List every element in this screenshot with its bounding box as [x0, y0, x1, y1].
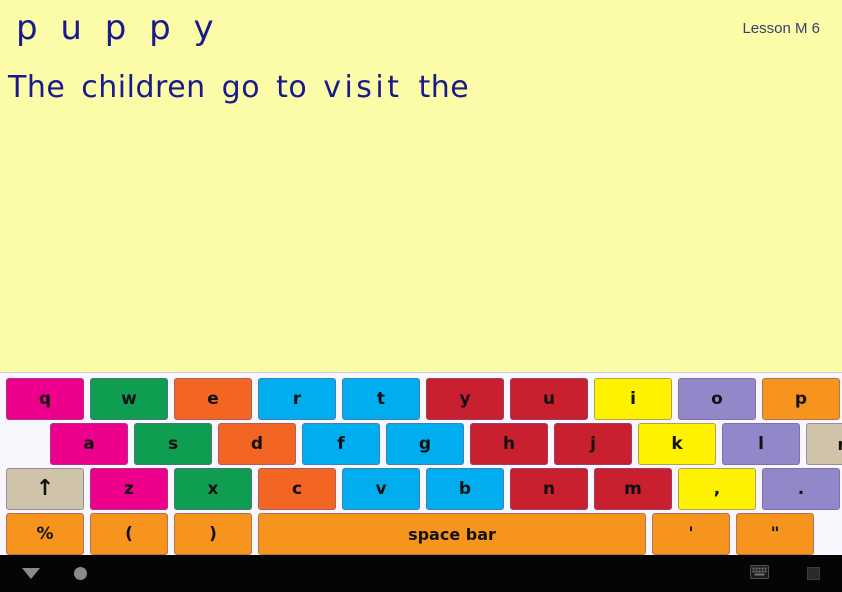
row2-left-gap	[6, 423, 44, 465]
key-apostrophe-label: '	[688, 524, 693, 544]
nav-back-icon[interactable]	[22, 568, 40, 579]
target-word: p u p p y	[16, 8, 220, 48]
key-open-paren[interactable]: (	[90, 513, 168, 555]
key-e-label: e	[207, 389, 219, 409]
key-w-label: w	[121, 389, 137, 409]
key-comma-label: ,	[714, 479, 720, 499]
key-j[interactable]: j	[554, 423, 632, 465]
sentence-word: go	[222, 70, 260, 105]
key-b[interactable]: b	[426, 468, 504, 510]
key-g-label: g	[419, 434, 431, 454]
keyboard-row-2: asdfghjklreturn	[3, 423, 839, 465]
sentence-word: visit	[323, 70, 402, 105]
key-t-label: t	[377, 389, 385, 409]
key-p-label: p	[795, 389, 807, 409]
key-q[interactable]: q	[6, 378, 84, 420]
key-return-label: return	[837, 435, 842, 454]
key-f[interactable]: f	[302, 423, 380, 465]
key-y[interactable]: y	[426, 378, 504, 420]
key-quote-label: "	[771, 524, 780, 544]
key-r-label: r	[293, 389, 301, 409]
keyboard-row-1: qwertyuiop	[3, 378, 839, 420]
key-quote[interactable]: "	[736, 513, 814, 555]
nav-home-icon[interactable]	[74, 567, 87, 580]
key-j-label: j	[590, 434, 596, 454]
key-c-label: c	[292, 479, 302, 499]
key-shift[interactable]: ↑	[6, 468, 84, 510]
key-l[interactable]: l	[722, 423, 800, 465]
key-period-label: .	[798, 479, 804, 499]
key-v-label: v	[375, 479, 386, 499]
key-h[interactable]: h	[470, 423, 548, 465]
key-u-label: u	[543, 389, 555, 409]
key-t[interactable]: t	[342, 378, 420, 420]
key-l-label: l	[758, 434, 764, 454]
key-i-label: i	[630, 389, 636, 409]
key-o[interactable]: o	[678, 378, 756, 420]
key-space-bar[interactable]: space bar	[258, 513, 646, 555]
arrow-up-icon: ↑	[36, 478, 54, 500]
nav-keyboard-icon[interactable]	[750, 564, 769, 583]
nav-left-group	[0, 567, 87, 580]
key-n[interactable]: n	[510, 468, 588, 510]
key-percent[interactable]: %	[6, 513, 84, 555]
key-w[interactable]: w	[90, 378, 168, 420]
sentence-word: the	[419, 70, 470, 105]
nav-right-group	[750, 564, 842, 583]
sentence-word: The	[8, 70, 65, 105]
app-screen: p u p p y Thechildrengotovisitthe Lesson…	[0, 0, 842, 592]
key-close-paren-label: )	[209, 524, 217, 544]
on-screen-keyboard: qwertyuiopasdfghjklreturn↑zxcvbnm,.;%()s…	[0, 372, 842, 555]
key-y-label: y	[459, 389, 470, 409]
key-v[interactable]: v	[342, 468, 420, 510]
android-nav-bar	[0, 555, 842, 592]
key-close-paren[interactable]: )	[174, 513, 252, 555]
key-m[interactable]: m	[594, 468, 672, 510]
keyboard-row-4: %()space bar'"	[3, 513, 839, 555]
sentence-line: Thechildrengotovisitthe	[8, 70, 485, 105]
key-i[interactable]: i	[594, 378, 672, 420]
lesson-label: Lesson M 6	[742, 20, 820, 37]
key-k[interactable]: k	[638, 423, 716, 465]
key-q-label: q	[39, 389, 51, 409]
key-g[interactable]: g	[386, 423, 464, 465]
key-open-paren-label: (	[125, 524, 133, 544]
nav-recents-icon[interactable]	[807, 567, 820, 580]
key-percent-label: %	[36, 524, 53, 544]
key-s[interactable]: s	[134, 423, 212, 465]
key-x-label: x	[208, 479, 219, 499]
sentence-word: to	[276, 70, 307, 105]
key-a-label: a	[83, 434, 94, 454]
key-apostrophe[interactable]: '	[652, 513, 730, 555]
key-d-label: d	[251, 434, 263, 454]
key-s-label: s	[168, 434, 178, 454]
key-f-label: f	[337, 434, 344, 454]
key-r[interactable]: r	[258, 378, 336, 420]
key-e[interactable]: e	[174, 378, 252, 420]
sentence-word: children	[81, 70, 205, 105]
key-z[interactable]: z	[90, 468, 168, 510]
key-m-label: m	[624, 479, 642, 499]
key-space-bar-label: space bar	[408, 525, 496, 544]
key-return[interactable]: return	[806, 423, 842, 465]
key-b-label: b	[459, 479, 471, 499]
key-period[interactable]: .	[762, 468, 840, 510]
key-u[interactable]: u	[510, 378, 588, 420]
key-o-label: o	[711, 389, 723, 409]
key-x[interactable]: x	[174, 468, 252, 510]
key-k-label: k	[671, 434, 682, 454]
key-comma[interactable]: ,	[678, 468, 756, 510]
key-c[interactable]: c	[258, 468, 336, 510]
key-n-label: n	[543, 479, 555, 499]
key-h-label: h	[503, 434, 515, 454]
key-a[interactable]: a	[50, 423, 128, 465]
keyboard-row-3: ↑zxcvbnm,.;	[3, 468, 839, 510]
key-d[interactable]: d	[218, 423, 296, 465]
key-z-label: z	[124, 479, 134, 499]
key-p[interactable]: p	[762, 378, 840, 420]
